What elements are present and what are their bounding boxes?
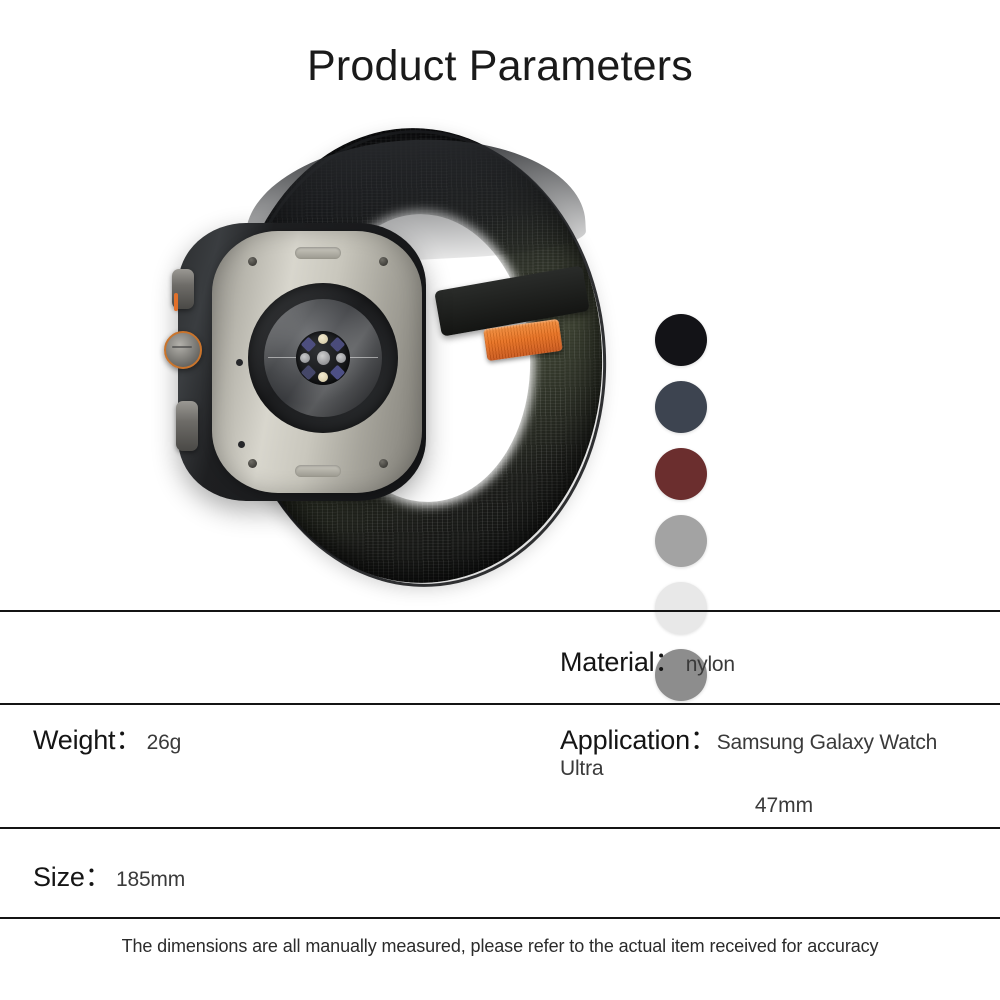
- spec-row-weight: Weight： 26g: [33, 718, 181, 757]
- page-title: Product Parameters: [0, 42, 1000, 91]
- sensor-glass: [264, 299, 382, 417]
- sensor-port: [238, 441, 245, 448]
- sensor-led-cluster: [296, 331, 350, 385]
- color-swatch-dark-maroon[interactable]: [655, 448, 707, 500]
- watch-side-button-upper: [172, 269, 194, 309]
- spec-label-material: Material：: [560, 647, 681, 677]
- spec-label-application: Application：: [560, 725, 717, 755]
- sensor-led-diode: [318, 334, 328, 344]
- sensor-led-center: [317, 351, 330, 365]
- sensor-led-diode: [300, 353, 310, 363]
- spec-divider: [0, 827, 1000, 829]
- spec-label-weight: Weight：: [33, 725, 142, 755]
- sensor-led-diode: [330, 365, 346, 381]
- product-parameters-page: Product Parameters: [0, 0, 1000, 1000]
- watch-side-button-lower: [176, 401, 198, 451]
- sensor-led-diode: [318, 372, 328, 382]
- sensor-led-diode: [330, 337, 346, 353]
- spec-row-size: Size： 185mm: [33, 855, 185, 894]
- spec-divider: [0, 917, 1000, 919]
- heart-rate-sensor-housing: [248, 283, 398, 433]
- charging-contact-top: [295, 247, 341, 259]
- button-orange-accent: [174, 293, 178, 311]
- spec-value-application-line2: 47mm: [588, 794, 980, 818]
- spec-row-application: Application：Samsung Galaxy Watch Ultra 4…: [560, 718, 980, 818]
- charging-contact-bottom: [295, 465, 341, 477]
- spec-row-material: Material： nylon: [560, 640, 735, 679]
- spec-value-size: 185mm: [116, 868, 185, 891]
- case-screw: [379, 459, 388, 468]
- color-swatch-white[interactable]: [655, 582, 707, 634]
- watch-crown: [164, 331, 202, 369]
- color-swatch-black[interactable]: [655, 314, 707, 366]
- spec-value-material: nylon: [686, 653, 735, 676]
- smartwatch: [178, 223, 426, 501]
- spec-divider: [0, 610, 1000, 612]
- product-image: [0, 110, 1000, 600]
- case-screw: [379, 257, 388, 266]
- spec-value-weight: 26g: [147, 731, 181, 754]
- case-screw: [248, 257, 257, 266]
- sensor-led-diode: [301, 365, 317, 381]
- spec-label-size: Size：: [33, 862, 112, 892]
- color-swatch-light-gray[interactable]: [655, 515, 707, 567]
- microphone-port: [236, 359, 243, 366]
- watch-back-plate: [212, 231, 422, 493]
- spec-divider: [0, 703, 1000, 705]
- case-screw: [248, 459, 257, 468]
- measurement-disclaimer: The dimensions are all manually measured…: [0, 936, 1000, 957]
- sensor-led-diode: [301, 337, 317, 353]
- color-swatch-dark-slate[interactable]: [655, 381, 707, 433]
- sensor-led-diode: [336, 353, 346, 363]
